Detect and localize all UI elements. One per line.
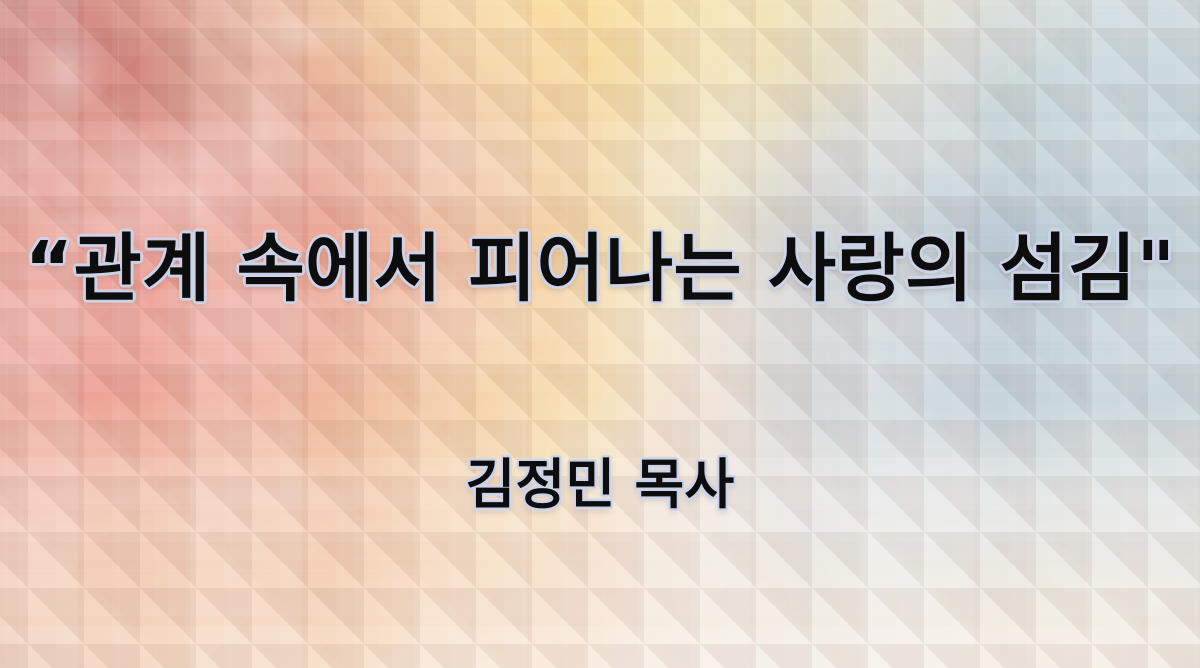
background-triangle-dark-pattern	[0, 0, 1200, 668]
background-slate-mid-right	[0, 0, 1200, 668]
background-triangle-light-pattern	[0, 0, 1200, 668]
slide-title: “관계 속에서 피어나는 사랑의 섬김"	[0, 232, 1200, 306]
background-rose-top-left	[0, 0, 1200, 668]
background-vignette	[0, 0, 1200, 668]
background-peach-bottom-left	[0, 0, 1200, 668]
background-gold-top-center	[0, 0, 1200, 668]
background-triangle-large-pattern	[0, 0, 1200, 668]
slide-speaker-name: 김정민 목사	[0, 458, 1200, 512]
background-cool-blue-right	[0, 0, 1200, 668]
background-grid-seams	[0, 0, 1200, 668]
background-cream-bottom-right	[0, 0, 1200, 668]
background-block-quilt-pattern	[0, 0, 1200, 668]
background-cloud-grain	[0, 0, 1200, 668]
title-slide: “관계 속에서 피어나는 사랑의 섬김" 김정민 목사	[0, 0, 1200, 668]
background-base-gradient	[0, 0, 1200, 668]
background-salmon-mid-left	[0, 0, 1200, 668]
background-blush-bottom-center	[0, 0, 1200, 668]
